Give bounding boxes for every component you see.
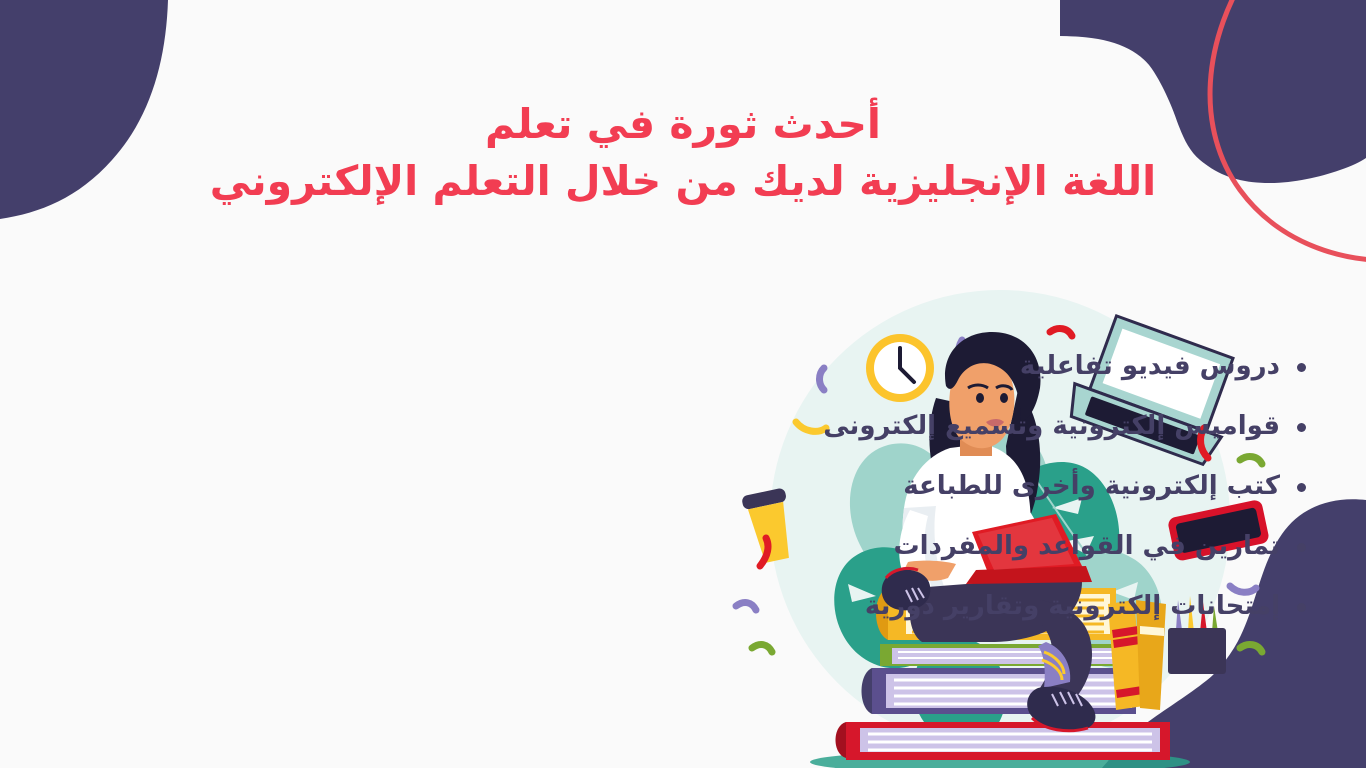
list-item: قواميس إلكترونية وتسميع إلكترونى	[706, 396, 1306, 456]
list-item: تمارين في القواعد والمفردات	[706, 516, 1306, 576]
list-item: كتب إلكترونية وأخرى للطباعة	[706, 456, 1306, 516]
feature-list: دروس فيديو تفاعلية قواميس إلكترونية وتسم…	[706, 336, 1306, 636]
slide-canvas: أحدث ثورة في تعلم اللغة الإنجليزية لديك …	[0, 0, 1366, 768]
headline-line-2: اللغة الإنجليزية لديك من خلال التعلم الإ…	[0, 153, 1366, 210]
list-item: دروس فيديو تفاعلية	[706, 336, 1306, 396]
headline-line-1: أحدث ثورة في تعلم	[0, 96, 1366, 153]
headline: أحدث ثورة في تعلم اللغة الإنجليزية لديك …	[0, 96, 1366, 211]
list-item: إمتحانات إلكترونية وتقارير دورية	[706, 576, 1306, 636]
